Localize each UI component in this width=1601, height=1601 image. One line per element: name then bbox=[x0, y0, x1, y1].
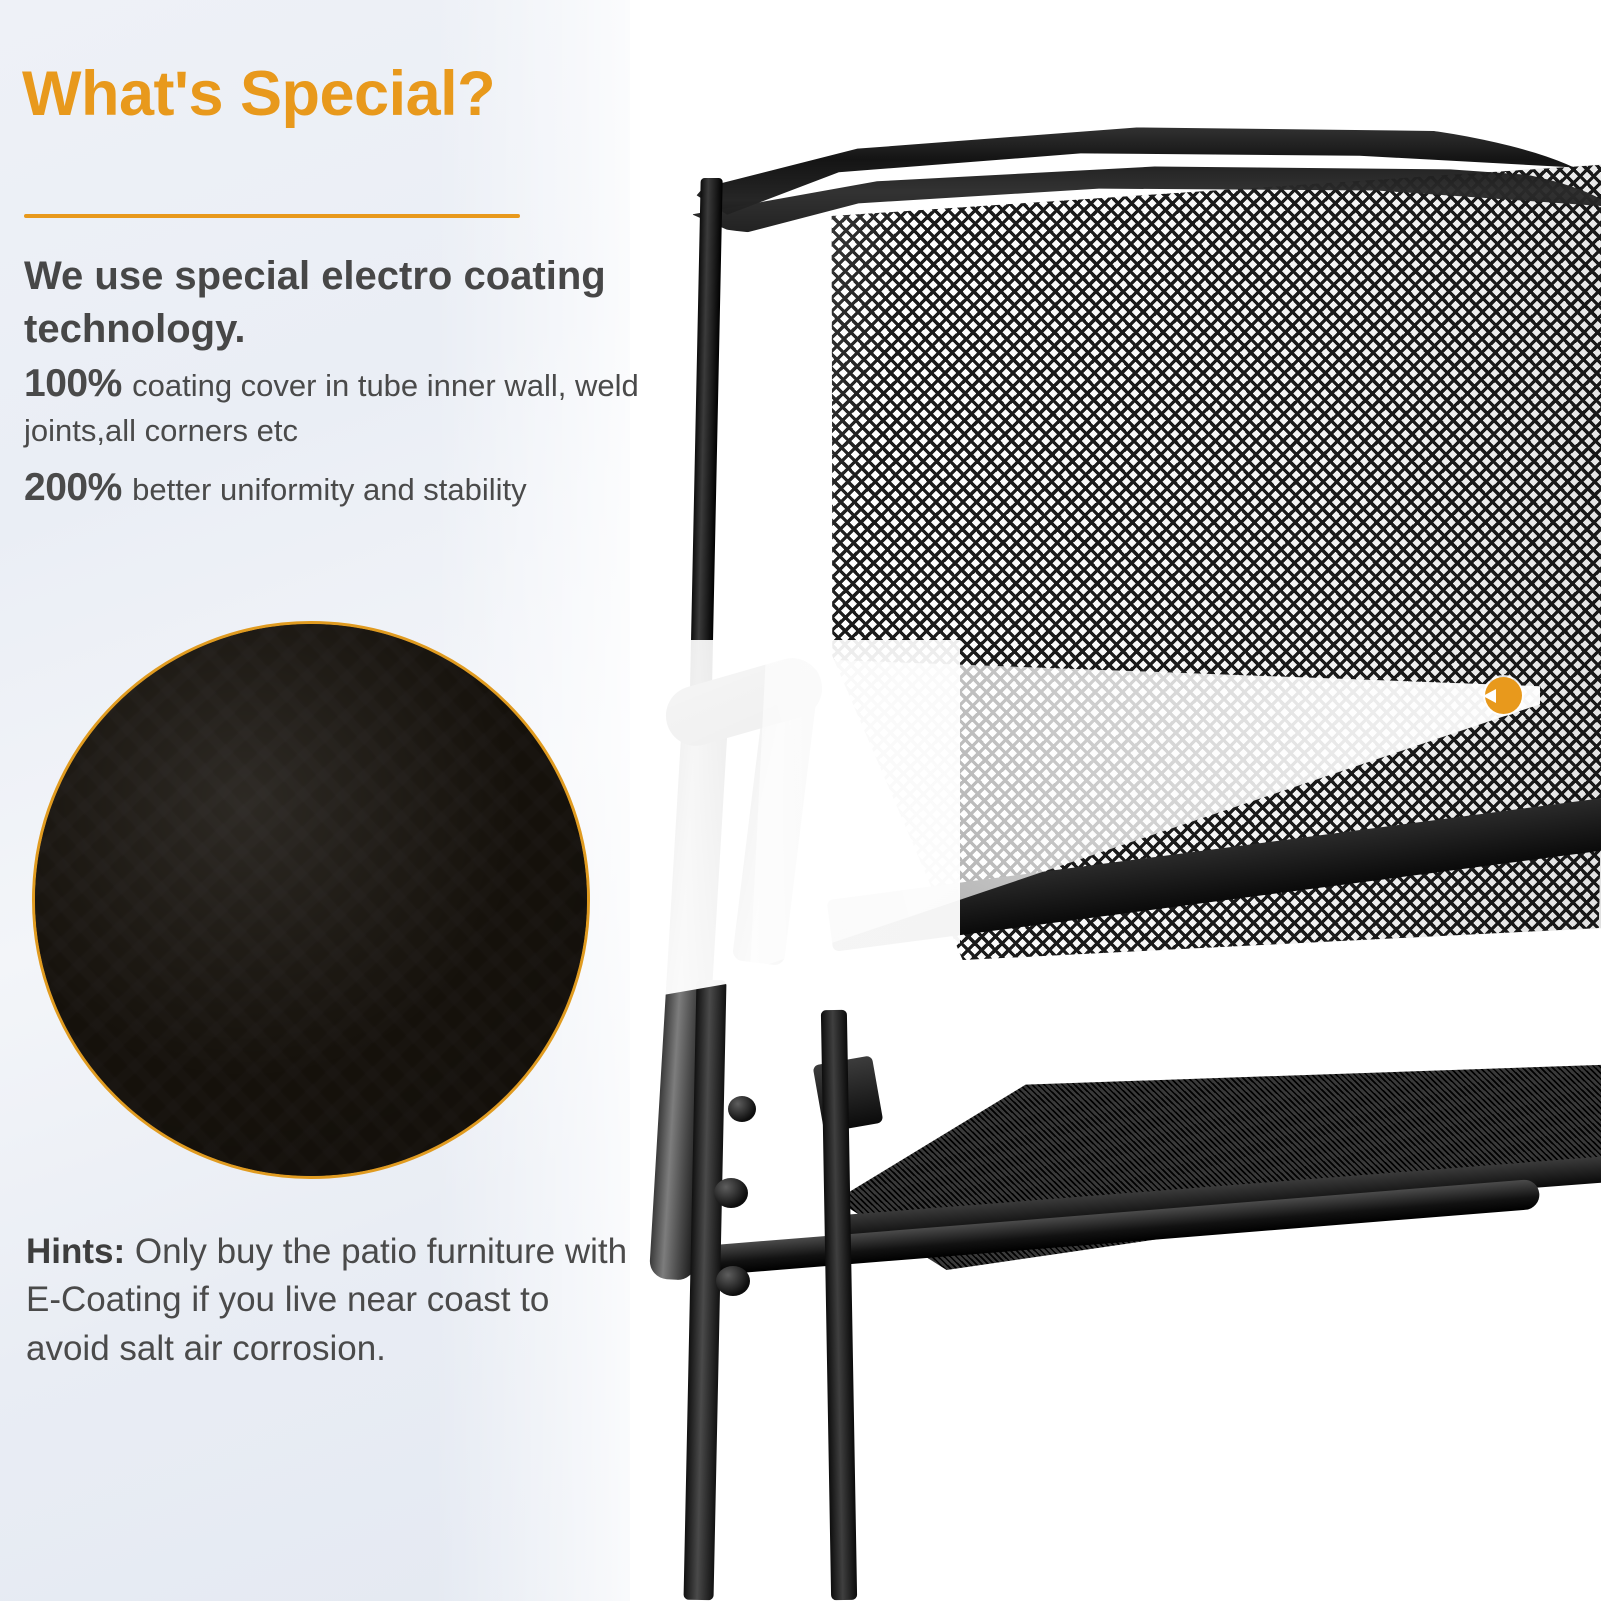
mesh-detail-circle bbox=[32, 621, 590, 1179]
lead-heading: We use special electro coating technolog… bbox=[24, 250, 664, 356]
chair-bolt bbox=[728, 1096, 756, 1122]
chair-photo bbox=[630, 0, 1601, 1601]
magnifier-shading bbox=[35, 624, 587, 1176]
hints-label: Hints: bbox=[26, 1232, 135, 1271]
title-divider bbox=[24, 214, 520, 218]
hints-paragraph: Hints: Only buy the patio furniture with… bbox=[26, 1228, 636, 1373]
coating-highlight-dot bbox=[1485, 677, 1522, 714]
chair-bolt bbox=[716, 1266, 750, 1296]
stat-row-200: 200% better uniformity and stability bbox=[24, 462, 644, 514]
chair-bolt bbox=[714, 1178, 748, 1208]
page-title: What's Special? bbox=[22, 58, 495, 130]
stat-row-100: 100% coating cover in tube inner wall, w… bbox=[24, 358, 644, 451]
stat-value: 100% bbox=[24, 362, 132, 405]
infographic-canvas: What's Special? We use special electro c… bbox=[0, 0, 1601, 1601]
stat-text: better uniformity and stability bbox=[132, 472, 527, 507]
stat-value: 200% bbox=[24, 466, 132, 509]
